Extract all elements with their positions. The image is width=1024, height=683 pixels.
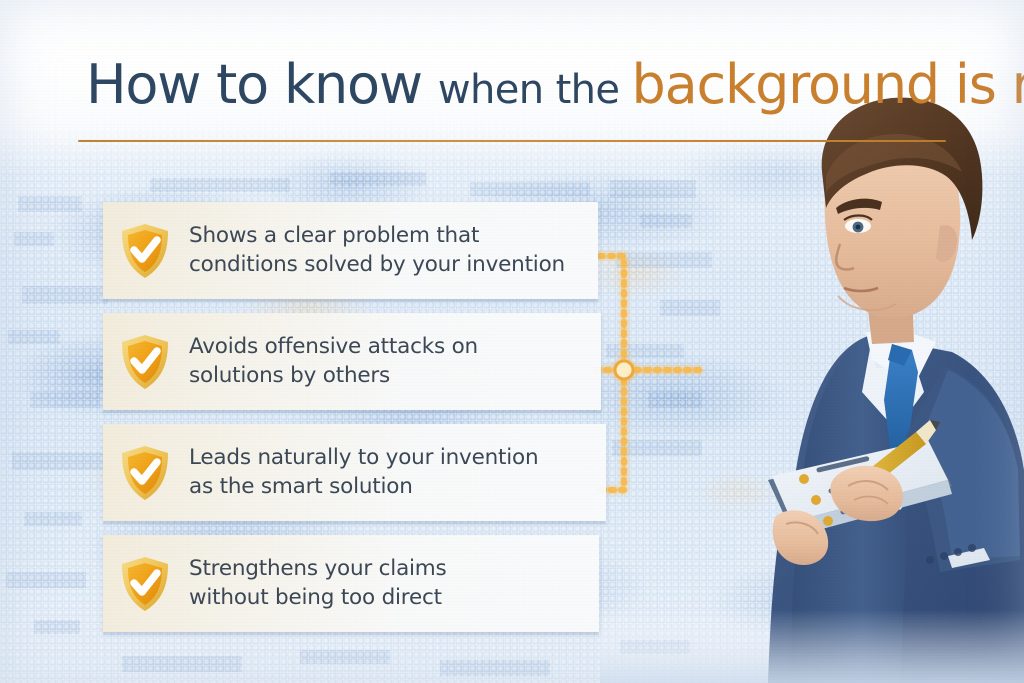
poster-canvas: How to know when the background is ready: [0, 0, 1024, 683]
paper-texture-overlay: [0, 0, 1024, 683]
